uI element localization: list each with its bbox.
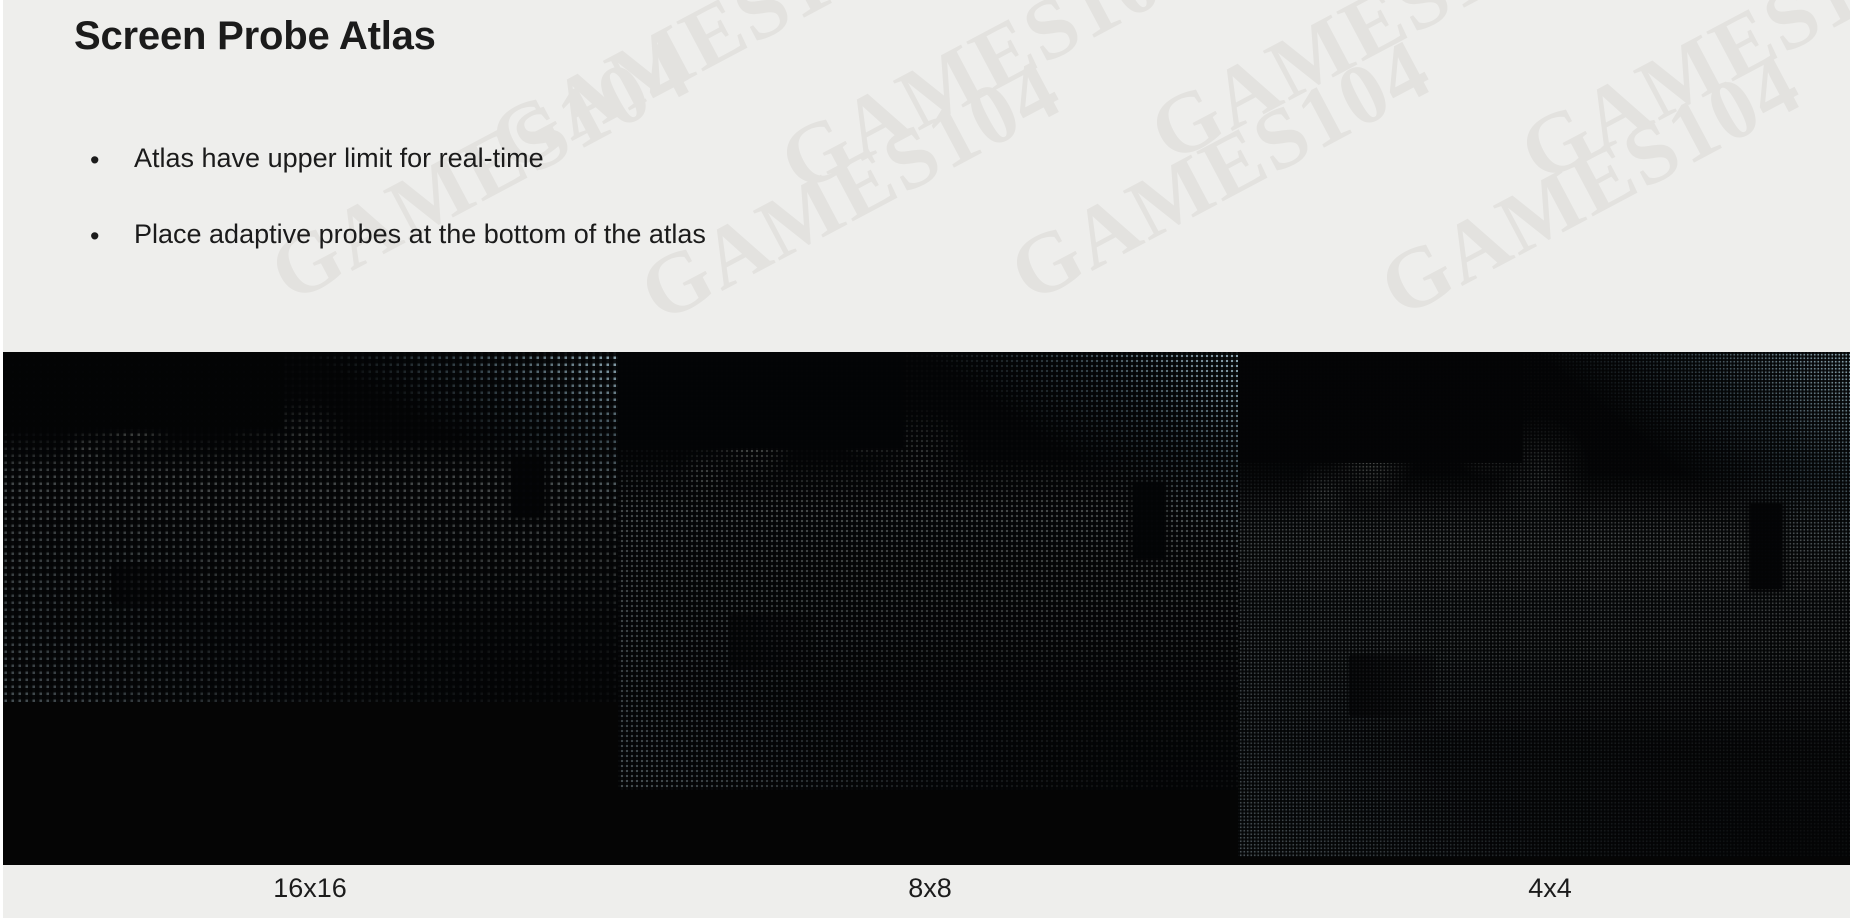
bench-region xyxy=(111,562,198,604)
bullet-text: Atlas have upper limit for real-time xyxy=(134,143,544,173)
bench-region xyxy=(730,615,817,668)
render-panel-4x4 xyxy=(1238,352,1856,865)
render-comparison-strip xyxy=(0,352,1856,865)
right-edge-margin xyxy=(1850,0,1856,918)
watermark-text: GAMES104 xyxy=(1363,33,1816,337)
render-image xyxy=(618,352,1238,790)
bullet-text: Place adaptive probes at the bottom of t… xyxy=(134,219,706,249)
bullet-list: • Atlas have upper limit for real-time •… xyxy=(82,142,1282,295)
render-image xyxy=(1238,352,1856,857)
render-panel-16x16 xyxy=(0,352,618,865)
figure-area xyxy=(0,352,1856,865)
caption-4x4: 4x4 xyxy=(1350,873,1750,904)
window-region xyxy=(513,457,544,517)
slide: GAMES104 GAMES104 GAMES104 GAMES104 GAME… xyxy=(0,0,1856,918)
window-region xyxy=(1751,504,1782,590)
left-edge-margin xyxy=(0,0,3,918)
sky-region xyxy=(0,352,284,429)
window-region xyxy=(1133,483,1164,557)
caption-row: 16x16 8x8 4x4 xyxy=(0,865,1856,918)
bullet-marker-icon: • xyxy=(90,220,99,252)
sky-region xyxy=(1238,352,1522,463)
bullet-marker-icon: • xyxy=(90,144,99,176)
render-panel-8x8 xyxy=(618,352,1238,865)
bullet-item: • Atlas have upper limit for real-time xyxy=(82,142,1282,174)
render-image xyxy=(0,352,618,702)
slide-title: Screen Probe Atlas xyxy=(74,14,436,59)
bench-region xyxy=(1349,655,1436,716)
caption-8x8: 8x8 xyxy=(730,873,1130,904)
sky-region xyxy=(618,352,903,448)
bullet-item: • Place adaptive probes at the bottom of… xyxy=(82,218,1282,250)
watermark-text: GAMES104 xyxy=(1503,0,1856,202)
caption-16x16: 16x16 xyxy=(110,873,510,904)
